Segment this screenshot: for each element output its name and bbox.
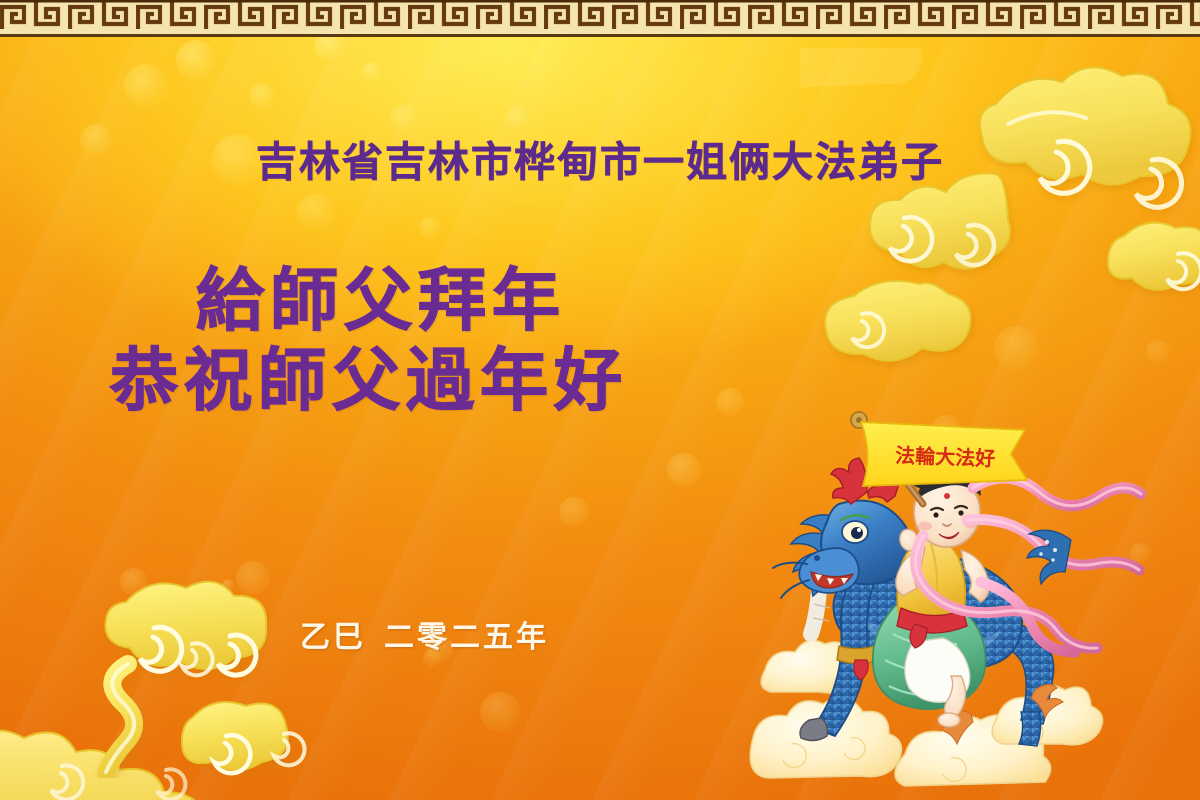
bokeh-dot (559, 497, 589, 527)
greeting-line-1: 給師父拜年 (110, 262, 628, 342)
bokeh-dot (994, 326, 1038, 370)
bokeh-dot (506, 106, 530, 130)
bokeh-dot (667, 453, 701, 487)
boy-riding-dragon-illustration: 法輪大法好 (735, 408, 1175, 800)
bokeh-dot (222, 579, 234, 591)
banner-text: 法輪大法好 (895, 443, 996, 470)
bokeh-dot (480, 692, 520, 732)
date-ganzhi: 乙巳 (300, 620, 366, 655)
bokeh-dot (362, 62, 382, 82)
bokeh-dot (176, 40, 216, 80)
date-line: 乙巳二零二五年 (300, 612, 549, 656)
banner-flag: 法輪大法好 (861, 422, 1027, 486)
bokeh-dot (249, 83, 275, 109)
bokeh-dot (236, 561, 270, 595)
greeting-block: 給師父拜年 恭祝師父過年好 (110, 262, 628, 422)
bokeh-dot (419, 217, 441, 239)
bokeh-dot (998, 238, 1014, 254)
greeting-card: 吉林省吉林市桦甸市一姐俩大法弟子 給師父拜年 恭祝師父過年好 乙巳二零二五年 (0, 0, 1200, 800)
bokeh-dot (124, 64, 168, 108)
sender-text: 吉林省吉林市桦甸市一姐俩大法弟子 (256, 128, 944, 188)
cloud-top-right (800, 48, 1200, 392)
sender-line: 吉林省吉林市桦甸市一姐俩大法弟子 (0, 128, 1200, 188)
meander-border-top (0, 0, 1200, 37)
greeting-line-2: 恭祝師父過年好 (110, 342, 628, 422)
bokeh-dot (297, 193, 335, 231)
date-year: 二零二五年 (384, 620, 549, 655)
bokeh-dot (1146, 340, 1170, 364)
cloud-bottom-left (30, 568, 320, 782)
cloud-bottom-left-bank (0, 682, 350, 800)
bokeh-dot (120, 568, 148, 596)
